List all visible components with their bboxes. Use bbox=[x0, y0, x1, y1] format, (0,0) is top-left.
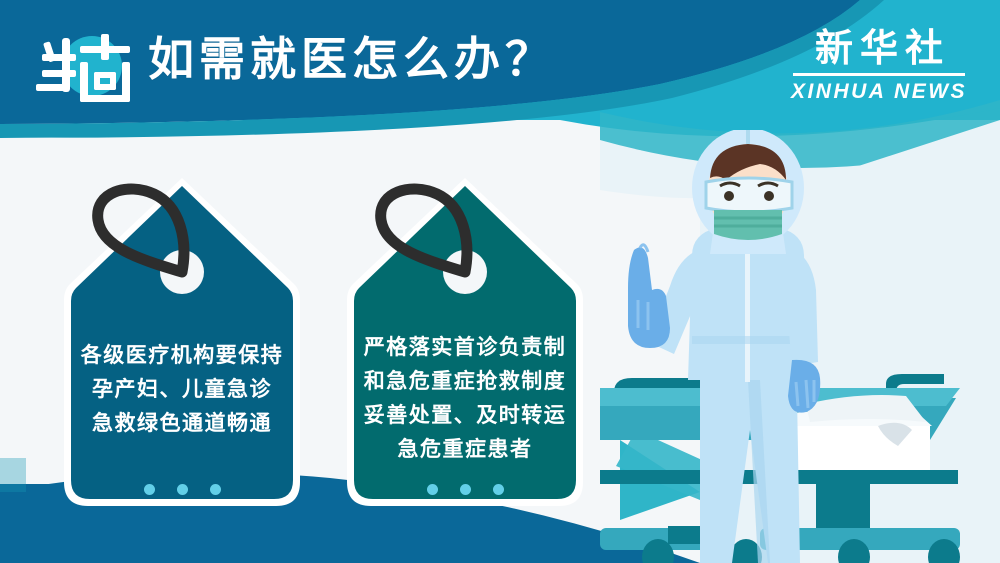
illustration-art bbox=[600, 130, 1000, 563]
card-1-dot-1 bbox=[144, 484, 155, 495]
card-1-line-3: 急救绿色通道畅通 bbox=[62, 406, 302, 440]
page-title: 如需就医怎么办？ bbox=[148, 28, 556, 90]
card-2-line-4: 急危重症患者 bbox=[345, 432, 585, 466]
card-1-dot-2 bbox=[177, 484, 188, 495]
card-1-line-2: 孕产妇、儿童急诊 bbox=[62, 372, 302, 406]
card-2-dots bbox=[345, 484, 585, 495]
card-2-line-2: 和急危重症抢救制度 bbox=[345, 364, 585, 398]
tag-string-path-1 bbox=[98, 189, 184, 272]
info-tag-card-1[interactable]: 各级医疗机构要保持 孕产妇、儿童急诊 急救绿色通道畅通 bbox=[62, 172, 302, 512]
card-2-dot-3 bbox=[493, 484, 504, 495]
medical-worker-ppe bbox=[628, 130, 820, 563]
card-1-dot-3 bbox=[210, 484, 221, 495]
xinhua-logo-en: XINHUA NEWS bbox=[784, 80, 974, 104]
card-2-line-3: 妥善处置、及时转运 bbox=[345, 398, 585, 432]
info-tag-card-2[interactable]: 严格落实首诊负责制 和急危重症抢救制度 妥善处置、及时转运 急危重症患者 bbox=[345, 172, 585, 512]
card-2-dot-2 bbox=[460, 484, 471, 495]
card-1-line-1: 各级医疗机构要保持 bbox=[62, 338, 302, 372]
worker-waist-seam bbox=[692, 336, 804, 344]
worker-goggles bbox=[706, 178, 792, 212]
kepu-badge bbox=[34, 26, 138, 108]
xinhua-logo-cn: 新华社 bbox=[784, 26, 974, 70]
card-2-text: 严格落实首诊负责制 和急危重症抢救制度 妥善处置、及时转运 急危重症患者 bbox=[345, 330, 585, 466]
illustration-group bbox=[600, 130, 1000, 563]
card-2-line-1: 严格落实首诊负责制 bbox=[345, 330, 585, 364]
xinhua-logo-rule bbox=[793, 73, 965, 76]
card-2-dot-1 bbox=[427, 484, 438, 495]
tag-string-path-2 bbox=[381, 189, 467, 272]
xinhua-logo: 新华社 XINHUA NEWS bbox=[784, 26, 974, 104]
card-1-text: 各级医疗机构要保持 孕产妇、儿童急诊 急救绿色通道畅通 bbox=[62, 338, 302, 440]
worker-eye-left bbox=[724, 191, 734, 201]
kepu-badge-art bbox=[34, 26, 138, 108]
worker-arm-right bbox=[786, 246, 818, 366]
card-1-dots bbox=[62, 484, 302, 495]
infographic-canvas: 如需就医怎么办？ 新华社 XINHUA NEWS 各级医疗机构要保持 孕产妇、儿… bbox=[0, 0, 1000, 563]
worker-glove-left bbox=[628, 247, 670, 348]
worker-eye-right bbox=[764, 191, 774, 201]
